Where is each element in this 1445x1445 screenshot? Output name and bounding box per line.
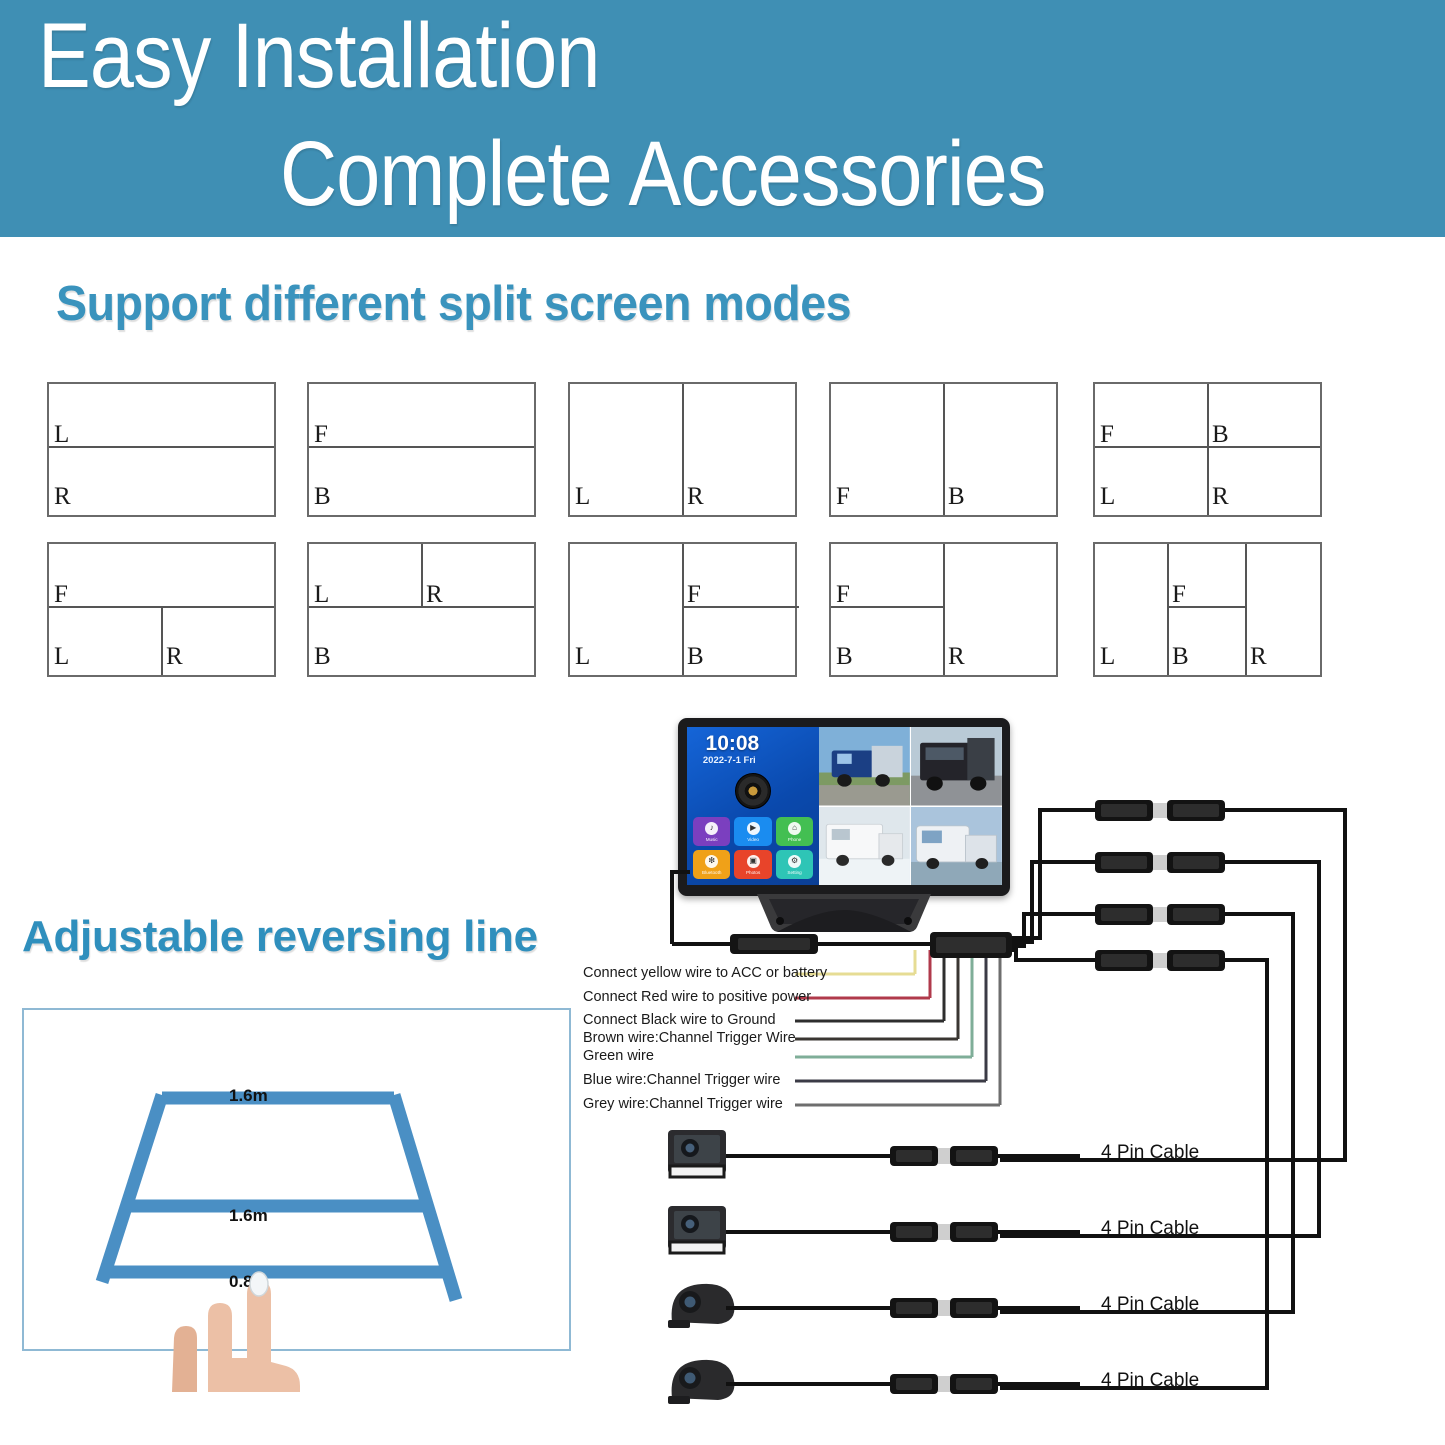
channel-feed-cable [1012, 950, 1095, 960]
pane-divider-vertical [421, 544, 423, 606]
connector-ribs [896, 1226, 932, 1238]
mode-pane-label: F [1172, 582, 1186, 607]
connector-coupling-ring [938, 1376, 950, 1392]
mode-pane-label: B [314, 484, 331, 509]
connector-coupling-ring [938, 1224, 950, 1240]
mode-pane-label: R [948, 644, 965, 669]
split-mode-4[interactable]: FB [829, 382, 1058, 517]
mode-pane-label: F [1100, 422, 1114, 447]
mode-pane-label: F [836, 582, 850, 607]
connector-coupling-ring [938, 1148, 950, 1164]
connector-ribs [1101, 856, 1147, 869]
connector-ribs [896, 1378, 932, 1390]
mode-pane-label: L [575, 484, 590, 509]
connector-coupling-ring [1153, 855, 1167, 870]
pin-cable-label: 4 Pin Cable [1101, 1218, 1199, 1240]
connector-ribs [1101, 954, 1147, 967]
connector-ribs [956, 1378, 992, 1390]
wire-legend-text: Connect Red wire to positive power [583, 989, 811, 1006]
connector-ribs [1173, 856, 1219, 869]
channel-return-cable [1000, 960, 1267, 1388]
connector-ribs [896, 1302, 932, 1314]
split-mode-9[interactable]: FBR [829, 542, 1058, 677]
split-mode-3[interactable]: LR [568, 382, 797, 517]
connector-ribs [956, 1150, 992, 1162]
pane-divider-vertical [682, 544, 684, 675]
pane-divider-horizontal [309, 446, 534, 448]
camera-bracket [670, 1166, 724, 1177]
channel-return-cable [1000, 914, 1293, 1312]
wire-legend-text: Brown wire:Channel Trigger Wire [583, 1030, 796, 1047]
mode-pane-label: F [54, 582, 68, 607]
pane-divider-horizontal [49, 446, 274, 448]
connector-ribs [896, 1150, 932, 1162]
mode-pane-label: L [314, 582, 329, 607]
mode-pane-label: B [314, 644, 331, 669]
pin-cable-label: 4 Pin Cable [1101, 1370, 1199, 1392]
camera-bracket [670, 1242, 724, 1253]
split-mode-10[interactable]: LFBR [1093, 542, 1322, 677]
camera-lens-glass [685, 1297, 696, 1308]
split-screen-mode-gallery: LRFBLRFBFBLRFLRLRBLFBFBRLFBR [0, 0, 1445, 700]
split-mode-5[interactable]: FBLR [1093, 382, 1322, 517]
wire-legend-text: Connect Black wire to Ground [583, 1012, 776, 1029]
wire-legend-text: Blue wire:Channel Trigger wire [583, 1072, 780, 1089]
mode-pane-label: F [836, 484, 850, 509]
wire-legend-text: Green wire [583, 1048, 654, 1065]
camera-lens-glass [685, 1373, 696, 1384]
camera-lens-glass [686, 1220, 695, 1229]
mode-pane-label: R [166, 644, 183, 669]
split-mode-7[interactable]: LRB [307, 542, 536, 677]
pane-divider-vertical [1245, 544, 1247, 675]
channel-feed-cable [1012, 914, 1095, 946]
mode-pane-label: R [1250, 644, 1267, 669]
monitor-power-cable [672, 872, 690, 944]
camera-lens-glass [686, 1144, 695, 1153]
connector-ribs [1173, 804, 1219, 817]
mode-pane-label: L [1100, 644, 1115, 669]
wire-legend-text: Connect yellow wire to ACC or battery [583, 965, 827, 982]
connector-coupling-ring [938, 1300, 950, 1316]
pane-divider-horizontal [309, 606, 534, 608]
mode-pane-label: L [575, 644, 590, 669]
mode-pane-label: B [948, 484, 965, 509]
pane-divider-vertical [161, 606, 163, 675]
connector-coupling-ring [1153, 803, 1167, 818]
split-mode-6[interactable]: FLR [47, 542, 276, 677]
connector-coupling-ring [1153, 907, 1167, 922]
connector-ribs [1173, 954, 1219, 967]
mode-pane-label: R [426, 582, 443, 607]
wire-legend-text: Grey wire:Channel Trigger wire [583, 1096, 783, 1113]
split-mode-8[interactable]: LFB [568, 542, 797, 677]
pin-cable-label: 4 Pin Cable [1101, 1142, 1199, 1164]
split-mode-2[interactable]: FB [307, 382, 536, 517]
camera-mount [668, 1320, 690, 1328]
pane-divider-vertical [1167, 544, 1169, 675]
mode-pane-label: L [54, 644, 69, 669]
hub-body-highlight [936, 937, 1006, 953]
mode-pane-label: F [687, 582, 701, 607]
connector-ribs [1101, 908, 1147, 921]
connector-ribs [1101, 804, 1147, 817]
pane-divider-vertical [943, 544, 945, 675]
mode-pane-label: L [1100, 484, 1115, 509]
mode-pane-label: R [1212, 484, 1229, 509]
mode-pane-label: R [687, 484, 704, 509]
mode-pane-label: L [54, 422, 69, 447]
camera-mount [668, 1396, 690, 1404]
pane-divider-vertical [682, 384, 684, 515]
pane-divider-vertical [943, 384, 945, 515]
mode-pane-label: R [54, 484, 71, 509]
power-connector-ribs [738, 938, 810, 950]
mode-pane-label: B [836, 644, 853, 669]
connector-ribs [1173, 908, 1219, 921]
connector-coupling-ring [1153, 953, 1167, 968]
pane-divider-vertical [1207, 384, 1209, 515]
mode-pane-label: B [1212, 422, 1229, 447]
connector-ribs [956, 1226, 992, 1238]
mode-pane-label: B [1172, 644, 1189, 669]
split-mode-1[interactable]: LR [47, 382, 276, 517]
mode-pane-label: B [687, 644, 704, 669]
mode-pane-label: F [314, 422, 328, 447]
connector-ribs [956, 1302, 992, 1314]
pin-cable-label: 4 Pin Cable [1101, 1294, 1199, 1316]
